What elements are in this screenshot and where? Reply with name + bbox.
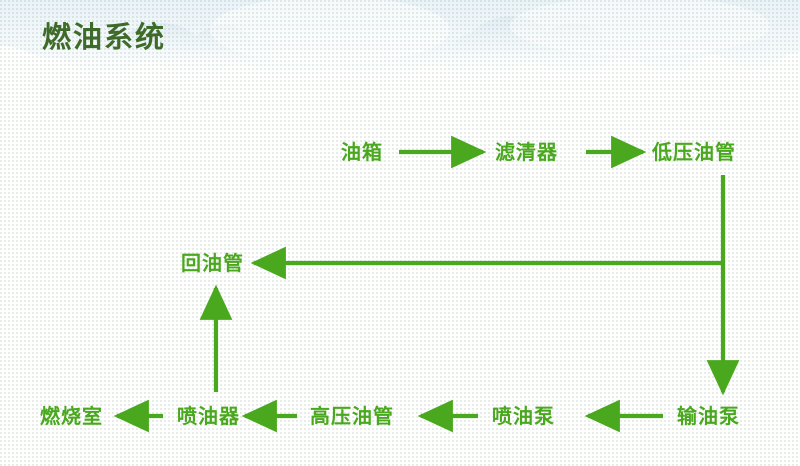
diagram-canvas: 燃油系统 油箱 滤清器 低压油管 回油管 燃烧室 喷油器 高压油管 喷油泵 输油… (0, 0, 800, 466)
node-high-pressure-pipe[interactable]: 高压油管 (310, 406, 394, 426)
node-combustion-chamber[interactable]: 燃烧室 (40, 406, 103, 426)
node-fuel-tank[interactable]: 油箱 (341, 142, 383, 162)
node-return-pipe[interactable]: 回油管 (181, 253, 244, 273)
node-low-pressure-pipe[interactable]: 低压油管 (652, 142, 736, 162)
arrow-layer (0, 0, 800, 466)
node-injector[interactable]: 喷油器 (177, 406, 240, 426)
page-title: 燃油系统 (42, 14, 166, 56)
node-injection-pump[interactable]: 喷油泵 (492, 406, 555, 426)
node-filter[interactable]: 滤清器 (495, 142, 558, 162)
node-transfer-pump[interactable]: 输油泵 (677, 406, 740, 426)
